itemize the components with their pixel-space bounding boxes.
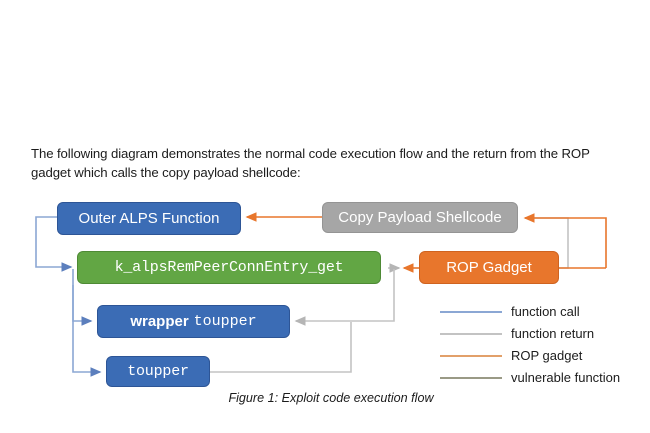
- legend-swatch-function-return: [440, 333, 502, 335]
- legend-item-function-call: function call: [440, 301, 640, 323]
- node-k-alps-rem-peer-conn-entry-get[interactable]: k_alpsRemPeerConnEntry_get: [77, 251, 381, 284]
- node-label-toupper: toupper: [189, 313, 257, 330]
- page-root: The following diagram demonstrates the n…: [0, 0, 650, 433]
- legend-swatch-function-call: [440, 311, 502, 313]
- node-toupper[interactable]: toupper: [106, 356, 210, 387]
- edge-outer-to-toupper: [73, 285, 100, 372]
- legend-label: function call: [511, 305, 580, 319]
- node-label: toupper: [127, 363, 189, 380]
- node-label: k_alpsRemPeerConnEntry_get: [115, 259, 344, 276]
- legend-swatch-rop-gadget: [440, 355, 502, 357]
- diagram-legend: function call function return ROP gadget…: [440, 301, 640, 389]
- legend-label: ROP gadget: [511, 349, 582, 363]
- intro-paragraph: The following diagram demonstrates the n…: [31, 144, 621, 182]
- figure-caption: Figure 1: Exploit code execution flow: [0, 391, 650, 405]
- legend-item-function-return: function return: [440, 323, 640, 345]
- node-label: Copy Payload Shellcode: [338, 209, 501, 226]
- node-rop-gadget[interactable]: ROP Gadget: [419, 251, 559, 284]
- legend-item-rop-gadget: ROP gadget: [440, 345, 640, 367]
- node-label-wrapper: wrapper: [130, 313, 188, 330]
- legend-label: function return: [511, 327, 594, 341]
- node-label: Outer ALPS Function: [79, 210, 220, 227]
- node-outer-alps-function[interactable]: Outer ALPS Function: [57, 202, 241, 235]
- legend-swatch-vulnerable-function: [440, 377, 502, 379]
- figure-caption-text: Figure 1: Exploit code execution flow: [216, 391, 433, 405]
- legend-item-vulnerable-function: vulnerable function: [440, 367, 640, 389]
- node-copy-payload-shellcode[interactable]: Copy Payload Shellcode: [322, 202, 518, 233]
- legend-label: vulnerable function: [511, 371, 620, 385]
- node-label: ROP Gadget: [446, 259, 532, 276]
- exploit-flow-diagram: Outer ALPS Function Copy Payload Shellco…: [0, 185, 650, 400]
- node-wrapper-toupper[interactable]: wrapper toupper: [97, 305, 290, 338]
